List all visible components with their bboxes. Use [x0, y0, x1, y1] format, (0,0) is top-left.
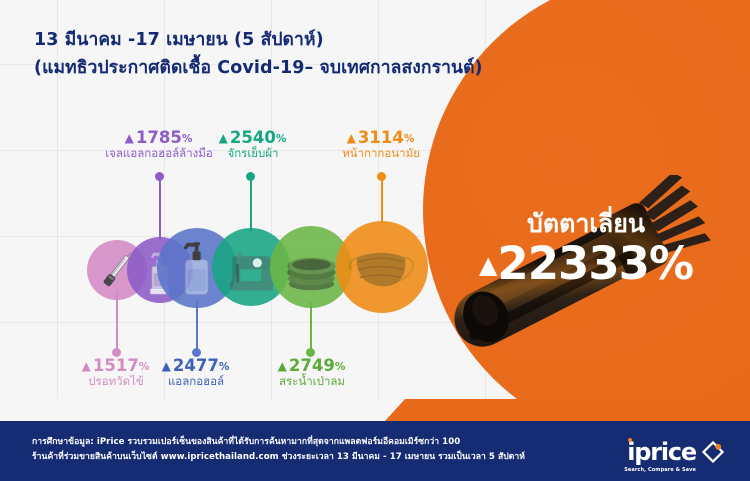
infographic-canvas: 13 มีนาคม -17 เมษายน (5 สัปดาห์) (แมทธิว…: [0, 0, 750, 481]
stem-sanitizer: [159, 176, 161, 240]
title-line-2: (แมทธิวประกาศติดเชื้อ Covid-19– จบเทศกาล…: [34, 54, 483, 82]
stem-thermometer: [116, 290, 118, 352]
value-sewing: ▲2540%: [219, 128, 288, 147]
value-mask: ▲3114%: [347, 128, 416, 147]
name-pool: สระน้ำเป่าลม: [242, 375, 382, 389]
up-triangle-icon: ▲: [219, 131, 228, 145]
price-tag-diamond-icon: [700, 439, 726, 465]
hero-highlight: บัตตาเลี่ยน ▲22333%: [455, 210, 717, 287]
value-sanitizer: ▲1785%: [125, 128, 194, 147]
up-triangle-icon: ▲: [82, 359, 91, 373]
label-pool: ▲2749% สระน้ำเป่าลม: [242, 356, 382, 388]
up-triangle-icon: ▲: [162, 359, 171, 373]
iprice-tagline: Search, Compare & Save: [624, 468, 696, 473]
footer-line-1: การศึกษาข้อมูล: iPrice รวบรวมเปอร์เซ็นขอ…: [32, 435, 525, 450]
up-triangle-icon: ▲: [125, 131, 134, 145]
up-triangle-icon: ▲: [278, 359, 287, 373]
up-triangle-icon: ▲: [347, 131, 356, 145]
name-mask: หน้ากากอนามัย: [316, 147, 446, 161]
iprice-logo[interactable]: iprice Search, Compare & Save: [627, 437, 726, 467]
stem-dot-sanitizer: [155, 172, 164, 181]
hero-value: ▲22333%: [455, 240, 717, 287]
footer-notch: [0, 399, 750, 421]
title-line-1: 13 มีนาคม -17 เมษายน (5 สัปดาห์): [34, 30, 324, 50]
value-pool: ▲2749%: [278, 356, 347, 375]
up-triangle-icon: ▲: [479, 251, 496, 279]
page-title: 13 มีนาคม -17 เมษายน (5 สัปดาห์) (แมทธิว…: [34, 26, 483, 83]
stem-pool: [310, 302, 312, 352]
stem-alcohol: [196, 300, 198, 352]
label-mask: ▲3114% หน้ากากอนามัย: [316, 128, 446, 160]
bubble-mask: [336, 221, 428, 313]
iprice-wordmark: iprice Search, Compare & Save: [627, 440, 696, 464]
footer-notch-orange: [385, 399, 750, 421]
footer-bar: การศึกษาข้อมูล: iPrice รวบรวมเปอร์เซ็นขอ…: [0, 421, 750, 481]
iprice-logo-text: iprice: [627, 438, 696, 466]
stem-dot-mask: [377, 172, 386, 181]
label-sewing: ▲2540% จักรเย็บผ้า: [188, 128, 318, 160]
footer-line-2: ร้านค้าที่ร่วมขายสินค้าบนเว็บไซต์ www.ip…: [32, 450, 525, 465]
stem-mask: [381, 176, 383, 226]
face-mask-icon: [343, 228, 420, 305]
name-sewing: จักรเย็บผ้า: [188, 147, 318, 161]
stem-dot-sewing: [246, 172, 255, 181]
value-alcohol: ▲2477%: [162, 356, 231, 375]
stem-sewing: [250, 176, 252, 232]
footer-text: การศึกษาข้อมูล: iPrice รวบรวมเปอร์เซ็นขอ…: [32, 435, 525, 465]
hero-name: บัตตาเลี่ยน: [455, 210, 717, 238]
